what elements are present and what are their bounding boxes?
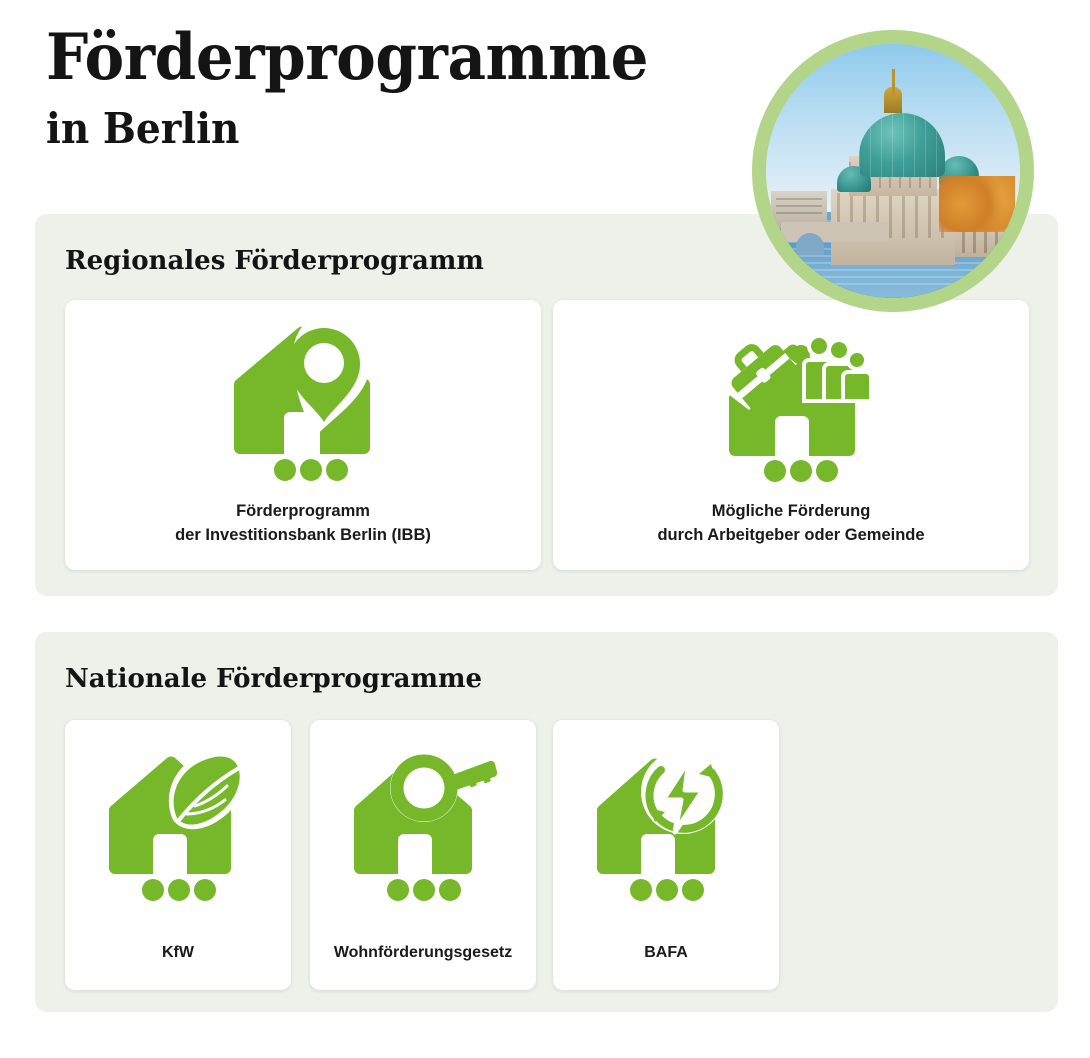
card-moegliche-foerderung[interactable]: Mögliche Förderung durch Arbeitgeber ode… [553,300,1029,570]
card-label: Wohnförderungsgesetz [324,941,522,964]
house-energy-icon [591,744,741,909]
house-briefcase-people-icon [709,318,874,488]
card-label: KfW [152,941,204,964]
bridge [781,222,888,242]
card-label: Förderprogramm der Investitionsbank Berl… [165,500,441,548]
house-map-pin-icon [228,318,378,488]
page-header: Förderprogramme in Berlin [46,26,746,150]
card-foerderprogramm-ibb[interactable]: Förderprogramm der Investitionsbank Berl… [65,300,541,570]
section-title-national: Nationale Förderprogramme [65,664,482,694]
card-wohnfoerderungsgesetz[interactable]: Wohnförderungsgesetz [310,720,536,990]
card-label: BAFA [634,941,698,964]
berlin-cathedral-photo [752,30,1034,312]
house-key-icon [348,744,498,909]
card-kfw[interactable]: KfW [65,720,291,990]
autumn-trees [939,176,1015,232]
house-leaf-icon [103,744,253,909]
page-subtitle: in Berlin [46,108,697,150]
photo-inner [766,44,1020,298]
section-title-regional: Regionales Förderprogramm [65,246,484,276]
card-label: Mögliche Förderung durch Arbeitgeber ode… [647,500,934,548]
cathedral-spire [892,69,895,95]
card-bafa[interactable]: BAFA [553,720,779,990]
page-title: Förderprogramme [46,26,697,90]
section-national: Nationale Förderprogramme KfW [35,632,1058,1012]
